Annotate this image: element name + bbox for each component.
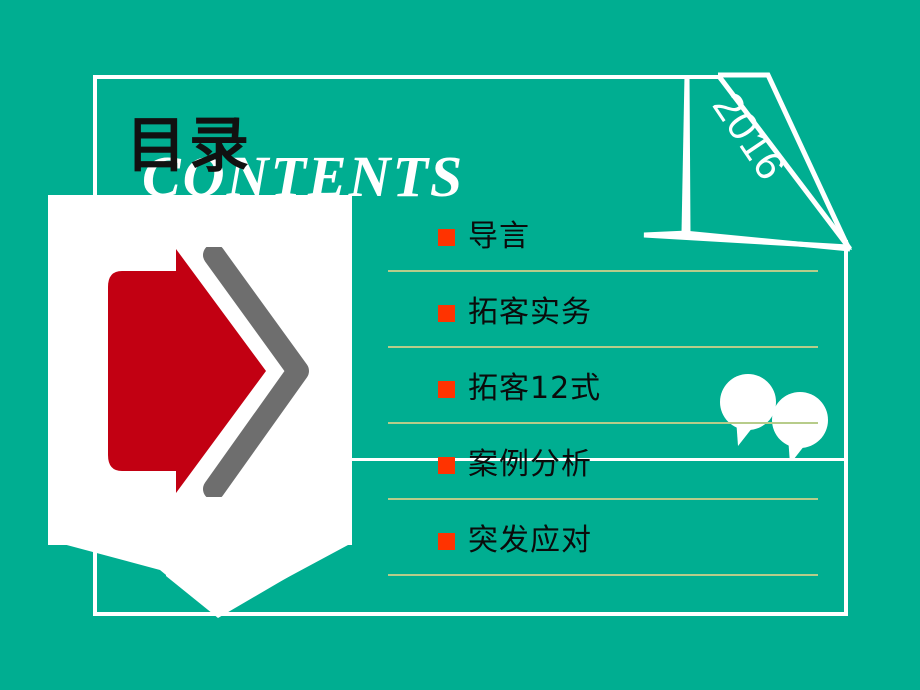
year-label: 2016	[703, 84, 795, 189]
presentation-slide: 2016 CONTENTS 目录 导言 拓客实务	[0, 0, 920, 690]
bullet-square-icon	[438, 381, 455, 398]
contents-item-label: 拓客实务	[468, 298, 592, 328]
frame-border-top	[93, 75, 718, 79]
list-item[interactable]: 拓客实务	[388, 282, 820, 358]
bullet-square-icon	[438, 457, 455, 474]
contents-divider	[388, 270, 818, 272]
contents-item-label: 导言	[468, 222, 530, 252]
contents-item-label: 突发应对	[468, 526, 592, 556]
contents-divider	[388, 422, 818, 424]
bullet-square-icon	[438, 229, 455, 246]
contents-divider	[388, 498, 818, 500]
red-arrow-chevron-logo-icon	[92, 247, 324, 497]
list-item[interactable]: 案例分析	[388, 434, 820, 510]
contents-item-label: 拓客12式	[468, 374, 601, 404]
frame-border-bottom	[93, 612, 848, 616]
page-title: 目录	[126, 116, 252, 176]
bullet-square-icon	[438, 305, 455, 322]
bullet-square-icon	[438, 533, 455, 550]
contents-divider	[388, 346, 818, 348]
frame-border-right	[844, 240, 848, 616]
contents-item-label: 案例分析	[468, 450, 592, 480]
contents-list: 导言 拓客实务 拓客12式 案例分析	[388, 206, 820, 586]
contents-divider	[388, 574, 818, 576]
list-item[interactable]: 拓客12式	[388, 358, 820, 434]
list-item[interactable]: 导言	[388, 206, 820, 282]
list-item[interactable]: 突发应对	[388, 510, 820, 586]
